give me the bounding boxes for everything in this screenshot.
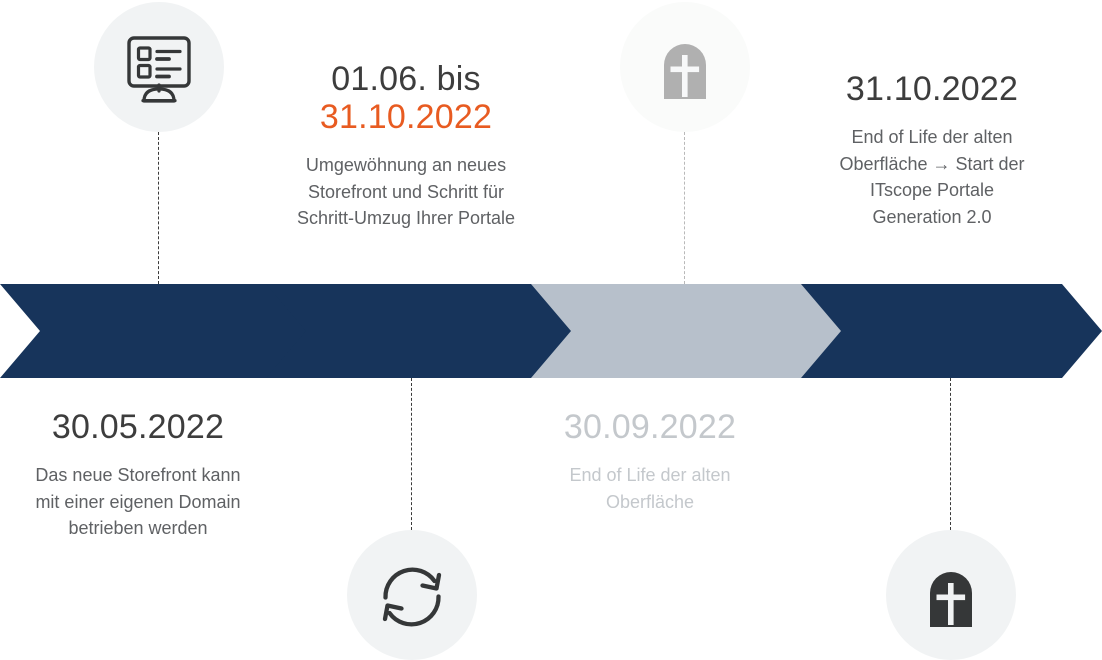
timeline-graphic: 30.05.2022 Das neue Storefront kann mit … [0,0,1102,660]
milestone-4-text: 31.10.2022 End of Life der alten Oberflä… [794,70,1070,231]
milestone-1-icon-bubble [94,2,224,132]
band-segment-1 [0,284,310,378]
milestone-1-connector [158,132,159,284]
milestone-2-description: Umgewöhnung an neues Storefront und Schr… [268,152,544,232]
milestone-3-text: 30.09.2022 End of Life der alten Oberflä… [512,408,788,515]
gravestone-icon [913,555,989,636]
milestone-4-icon-bubble [886,530,1016,660]
milestone-2-icon-bubble [347,530,477,660]
band-segment-3 [531,284,845,378]
milestone-3-connector [684,132,685,284]
milestone-3-description: End of Life der alten Oberfläche [512,462,788,515]
gravestone-icon [647,27,723,108]
milestone-2-date: 01.06. bis 31.10.2022 [268,60,544,136]
milestone-1-date: 30.05.2022 [0,408,276,446]
milestone-1-description: Das neue Storefront kann mit einer eigen… [0,462,276,542]
monitor-list-icon [120,26,198,109]
milestone-2-text: 01.06. bis 31.10.2022 Umgewöhnung an neu… [268,60,544,232]
milestone-1-text: 30.05.2022 Das neue Storefront kann mit … [0,408,276,542]
milestone-3-date: 30.09.2022 [512,408,788,446]
milestone-2-date-accent: 31.10.2022 [268,98,544,136]
milestone-4-connector [950,378,951,530]
band-segment-4 [801,284,1102,378]
sync-refresh-icon [374,555,450,636]
milestone-3-icon-bubble [620,2,750,132]
band-segment-2 [266,284,575,378]
timeline-band [0,284,1102,378]
milestone-4-description: End of Life der alten Oberfläche → Start… [794,124,1070,231]
milestone-4-date: 31.10.2022 [794,70,1070,108]
milestone-2-connector [411,378,412,530]
